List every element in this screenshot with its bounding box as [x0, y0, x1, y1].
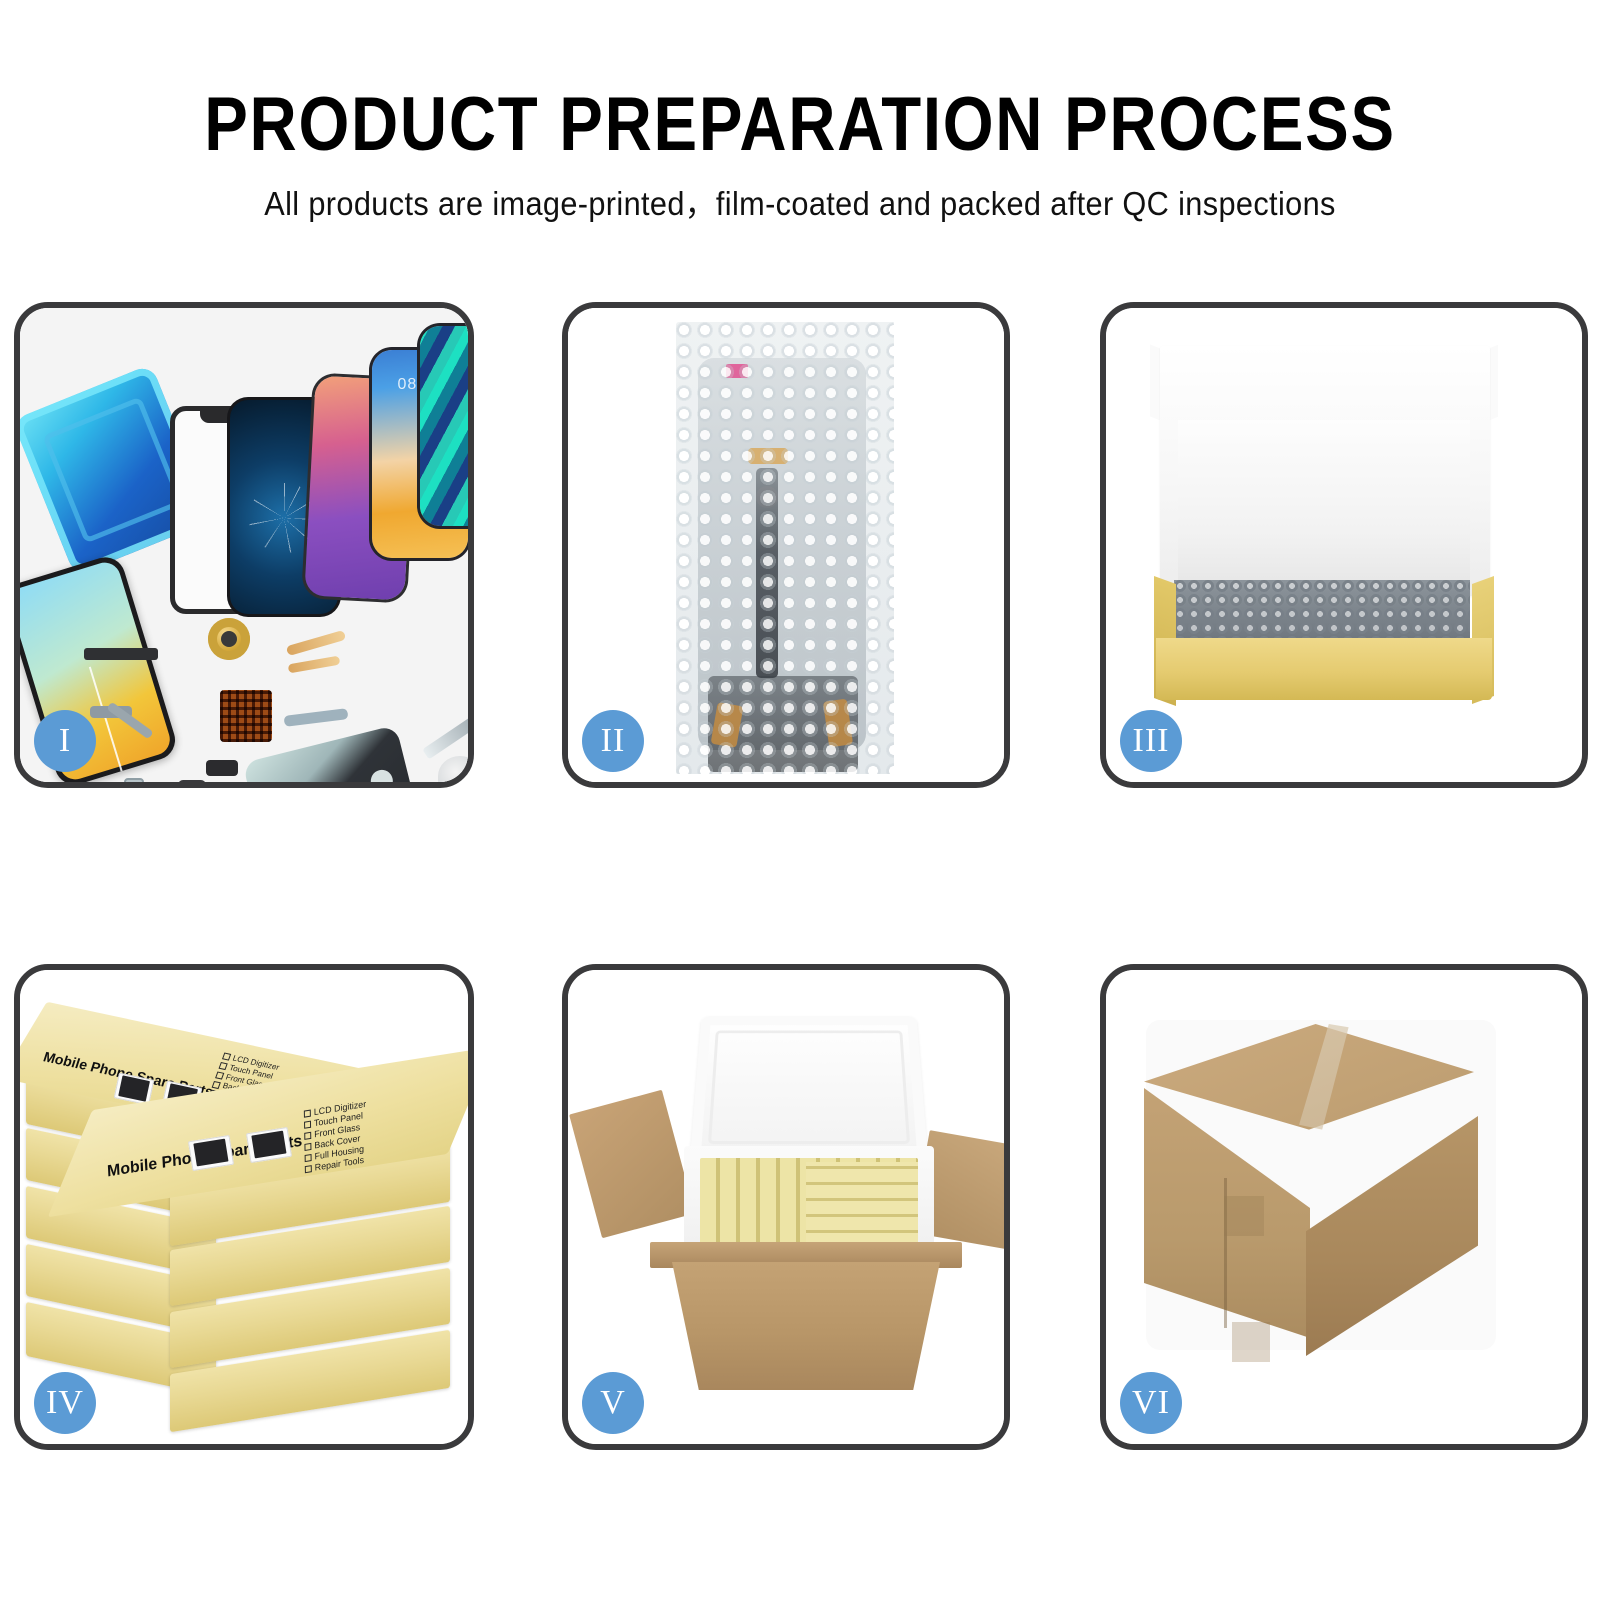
carton-patch-lower: [1232, 1322, 1270, 1362]
step-5-image: V: [568, 970, 1004, 1444]
camera-lens-shape: [368, 768, 395, 782]
earpiece-speaker-part: [84, 648, 158, 660]
step-2-image: II: [568, 308, 1004, 782]
styrofoam-lid: [690, 1016, 928, 1161]
phone-teal: [420, 326, 468, 526]
step-4-image: Mobile Phone Spare Parts LCD Digitizer T…: [20, 970, 468, 1444]
carton-flap-left: [569, 1090, 695, 1238]
pink-sticker: [726, 364, 748, 378]
step-badge-4: IV: [34, 1372, 96, 1434]
step-6-image: VI: [1106, 970, 1582, 1444]
step-3-image: III: [1106, 308, 1582, 782]
sim-tray-part: [124, 778, 144, 782]
step-badge-2: II: [582, 710, 644, 772]
carton-body: [672, 1262, 940, 1390]
bubble-wrap-padding: [1174, 580, 1470, 642]
step-panel-3[interactable]: III: [1100, 302, 1588, 788]
gold-connector: [748, 448, 788, 464]
carton-patch-upper: [1224, 1196, 1264, 1236]
step-badge-1: I: [34, 710, 96, 772]
wireless-charging-coil-part: [208, 618, 250, 660]
product-preparation-infographic: PRODUCT PREPARATION PROCESS All products…: [0, 0, 1600, 1600]
foam-liner: [1178, 420, 1470, 580]
step-panel-5[interactable]: V: [562, 964, 1010, 1450]
small-button-part: [178, 780, 206, 782]
process-steps-grid: 08:08: [0, 0, 1600, 1600]
retail-box-stack: Mobile Phone Spare Parts LCD Digitizer T…: [20, 970, 468, 1444]
step-panel-1[interactable]: 08:08: [14, 302, 474, 788]
gold-boxes-row-2: [806, 1162, 918, 1246]
step-1-image: 08:08: [20, 308, 468, 782]
step-badge-5: V: [582, 1372, 644, 1434]
step-panel-6[interactable]: VI: [1100, 964, 1588, 1450]
flex-ribbon-cable: [756, 468, 778, 678]
step-panel-4[interactable]: Mobile Phone Spare Parts LCD Digitizer T…: [14, 964, 474, 1450]
step-badge-6: VI: [1120, 1372, 1182, 1434]
step-badge-3: III: [1120, 710, 1182, 772]
camera-bracket-part: [206, 760, 238, 776]
step-panel-2[interactable]: II: [562, 302, 1010, 788]
box-checklist-front: LCD Digitizer Touch Panel Front Glass Ba…: [304, 1099, 367, 1175]
box-front-panel: [1156, 638, 1492, 700]
ic-chip-part: [220, 690, 272, 742]
